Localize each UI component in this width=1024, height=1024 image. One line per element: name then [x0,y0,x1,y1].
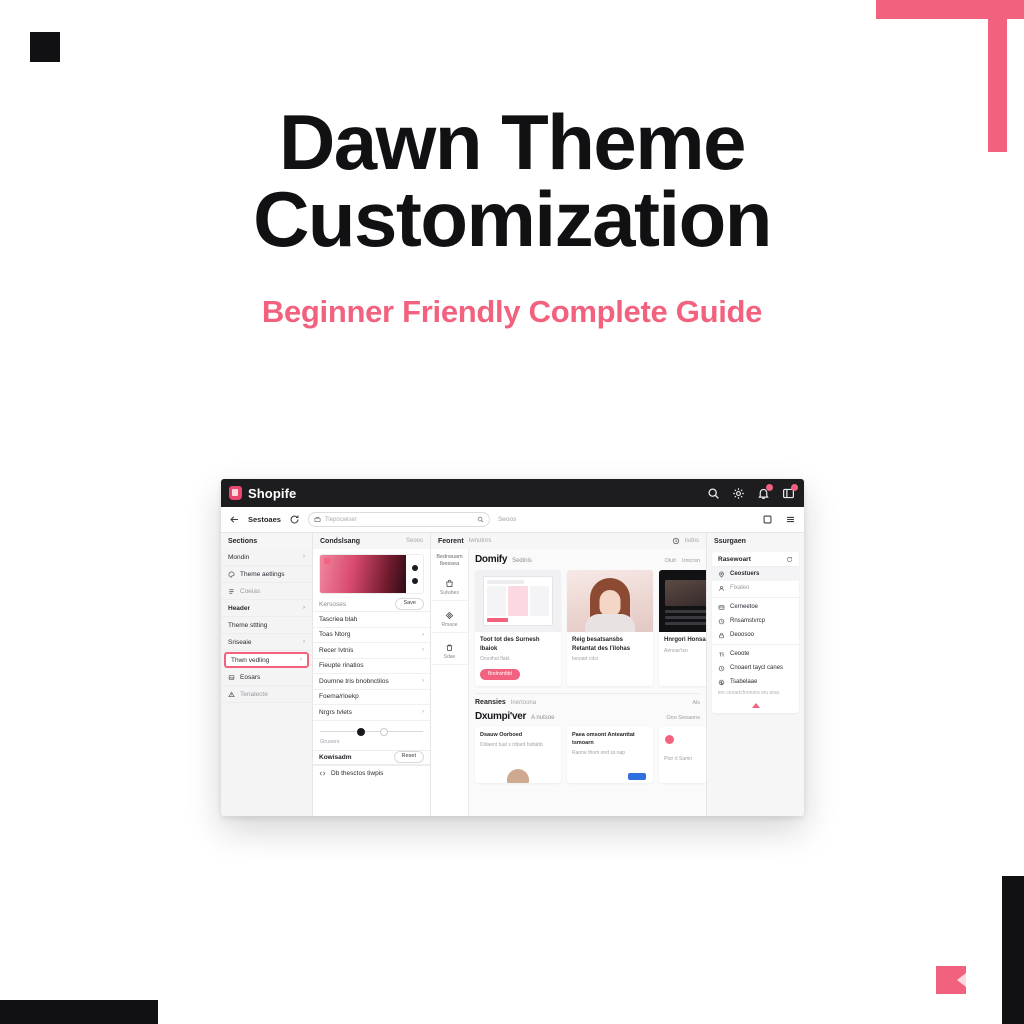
text-icon [718,651,725,658]
sections-panel-header: Sections [221,533,312,549]
inspector-footer [712,701,799,713]
storefront-logo: Domify [475,554,507,565]
inspector-item-label: Cnoaert taycl canes [730,665,783,671]
mini-card[interactable]: Dsauw Oorboed Didaent tuat s rdtard hslt… [475,727,561,783]
sidebar-item-label: Coeias [240,588,305,595]
mini-card-title: Paea omsont Anteanttat tsmoarn [572,732,648,747]
decor-bar-bottom-left [0,1000,158,1024]
product-card-body: Hnrgori Honsarpa Aenoar'tso [659,632,706,660]
sidebar-item-sriseaie[interactable]: Sriseaie › [221,634,312,651]
settings-panel-title: Condslsang [320,538,360,545]
section-strip-right[interactable]: Als [692,700,700,706]
swatch-stop-handles[interactable] [406,555,423,593]
clock-icon [718,618,725,625]
setting-row[interactable]: Foema/rloekp [313,690,430,706]
admin-toolbar: Sestoaes Tiepocwiser Seoos [221,507,804,533]
sidebar-item-label: Mondin [228,554,298,561]
sidebar-item-header[interactable]: Header › [221,600,312,617]
inspector-card-title: Rasewoart [718,556,751,563]
rail-item-sdae[interactable]: Sdae [431,639,468,665]
product-meta: Ienoart cdsi [572,656,648,662]
inspector-note: tno ceoartcfnonora sru anai. [712,689,799,701]
art-face [600,590,621,616]
palette-icon [228,571,235,578]
chevron-right-icon: › [300,657,302,663]
sidebar-item-label: Theme aetlings [240,571,305,578]
mini-card-button[interactable] [628,773,646,780]
setting-label: Doumne tris bnobnctilos [319,678,389,685]
inspector-title: Ssurgaen [714,538,746,545]
search-placeholder: Tiepocwiser [325,517,473,523]
art-image-block [665,580,706,606]
preview-rail: Bedrwuam Ibessea Sulwbes Rmaoe [431,549,469,816]
preview-subsection-header: Dxumpi'ver A nutsoe Ooo Seoaons [475,711,700,722]
storefront-preview: Domify Sedinis Olult Irnicrsn [469,549,706,816]
dashboard-artwork [483,576,553,626]
sections-panel-title: Sections [228,538,257,545]
refresh-icon[interactable] [289,514,300,525]
inspector-item-label: Fixaleo [730,585,749,591]
inspector-item-label: Cerneetoe [730,604,758,610]
rail-item-label: Sulwbes [440,590,459,596]
bag-icon [445,579,454,588]
inspector-item-fixaleo[interactable]: Fixaleo [712,581,799,595]
frame-icon[interactable] [762,514,773,525]
mini-card-row: Dsauw Oorboed Didaent tuat s rdtard hslt… [475,727,700,783]
sidebar-item-label: Thwn vedling [231,657,295,664]
sidebar-item-label: Eosars [240,674,305,681]
preview-header: Feorent Iwnutnrs Isdns [431,533,706,549]
swatch-stop-dot[interactable] [412,578,418,584]
setting-label: Foema/rloekp [319,693,359,700]
brand-name: Shopife [248,486,296,501]
panel-icon[interactable] [782,487,795,500]
gear-icon[interactable] [732,487,745,500]
setting-label: Tascriea blah [319,616,357,623]
shopify-bag-icon [229,486,242,500]
store-icon [314,516,321,523]
sections-panel: Sections Mondin › Theme aetlings [221,533,313,816]
preview-body: Bedrwuam Ibessea Sulwbes Rmaoe [431,549,706,816]
settings-footer-row: Kowisadm Reset [313,750,430,765]
decor-square-top-left [30,32,60,62]
admin-topbar: Shopife [221,479,804,507]
inspector-item-label: Deoosoo [730,632,754,638]
product-title: Hnrgori Honsarpa [664,636,706,645]
toolbar-right [762,514,796,525]
setting-row[interactable]: Recer Ivtnis › [313,643,430,659]
trash-icon [445,643,454,652]
search-icon[interactable] [707,487,720,500]
setting-label: Fieupte rinatios [319,662,363,669]
swatch-row: Kersoses Save [313,597,430,612]
sidebar-item-label: Sriseaie [228,639,298,646]
save-button[interactable]: Save [395,598,424,610]
inspector-card-header: Rasewoart [712,552,799,567]
product-thumbnail [659,570,706,632]
chevron-right-icon: › [422,632,424,638]
range-slider[interactable] [313,721,430,738]
sidebar-item-theme-settings[interactable]: Theme aetlings [221,566,312,583]
slider-line [320,731,423,733]
dollar-icon [718,679,725,686]
product-card-row: Toot tot des Surnesh Ibaiok Orsnihut fla… [475,570,700,686]
art-accent-bar [487,618,508,622]
section-strip-subtitle: Inertoona [511,700,536,706]
inspector-panel-header: Ssurgaen [707,533,804,549]
chevron-right-icon: › [303,554,305,560]
inspector-panel: Ssurgaen Rasewoart Ceostuers [706,533,804,816]
divider [712,597,799,598]
inspector-item-ceoote[interactable]: Ceoote [712,647,799,661]
mini-card-title: Dsauw Oorboed [480,732,556,740]
art-strip [665,610,706,613]
page-title-line1: Dawn Theme [279,98,745,186]
arrow-left-icon[interactable] [229,514,240,525]
art-cell [530,586,549,616]
preview-panel: Feorent Iwnutnrs Isdns Bedrwuam Ibessea [431,533,706,816]
chevron-right-icon: › [422,647,424,653]
art-torso [585,614,635,632]
product-title: Toot tot des Surnesh Ibaiok [480,636,556,653]
alert-icon [228,691,235,698]
sidebar-item-label: Tenalecte [240,691,305,698]
inspector-card: Rasewoart Ceostuers [712,552,799,713]
mini-card-subtitle: Didaent tuat s rdtard hsltabb [480,742,556,749]
refresh-icon[interactable] [786,556,793,563]
storefront-header-link[interactable]: Irnicrsn [682,558,700,564]
menu-icon[interactable] [785,514,796,525]
rail-item-label: Rmaoe [441,622,457,628]
product-card[interactable]: Hnrgori Honsarpa Aenoar'tso [659,570,706,686]
storefront-header: Domify Sedinis Olult Irnicrsn [475,554,700,565]
list-icon [228,588,235,595]
product-meta: Orsnihut flakt [480,656,556,662]
color-swatch-wrap [313,549,430,597]
art-strip [665,616,706,619]
inspector-item-label: Tsabelaae [730,679,757,685]
product-card[interactable]: Toot tot des Surnesh Ibaiok Orsnihut fla… [475,570,561,686]
rail-item-label: Sdae [444,654,456,660]
product-meta: Aenoar'tso [664,648,706,654]
product-card-body: Toot tot des Surnesh Ibaiok Orsnihut fla… [475,632,561,686]
preview-status-label: Isdns [685,538,699,544]
card-icon [718,604,725,611]
page-title: Dawn Theme Customization [0,104,1024,258]
preview-rail-title: Bedrwuam Ibessea [431,554,468,569]
preview-title: Feorent [438,538,464,545]
art-bar [487,580,524,584]
mini-card-subtitle: Raone thom ond ss.nap [572,750,648,757]
setting-label: Nrgrs tvlets [319,709,352,716]
rail-item-rmaoe[interactable]: Rmaoe [431,607,468,633]
code-icon [319,770,326,777]
rail-item-sulwbes[interactable]: Sulwbes [431,575,468,601]
avatar [507,769,529,783]
sidebar-item-eosars[interactable]: Eosars [221,669,312,686]
page-subtitle: Beginner Friendly Complete Guide [0,294,1024,330]
storefront-header-right: Olult Irnicrsn [665,558,700,564]
clock-icon [718,665,725,672]
pink-dot-icon [665,735,674,744]
divider [712,644,799,645]
inspector-item-tsabelaae[interactable]: Tsabelaae [712,675,799,689]
mini-card-subtitle: Ptor rt Samn [664,756,706,763]
tag-icon [445,611,454,620]
toolbar-label: Sestoaes [248,515,281,524]
chevron-right-icon: › [303,605,305,611]
sidebar-item-tenalecte[interactable]: Tenalecte [221,686,312,703]
topbar-icons [707,487,795,500]
sidebar-item-selected[interactable]: Thwn vedling › [224,652,309,668]
shopify-admin-screenshot: Shopife [221,479,804,816]
inspector-item-label: Ceostuers [730,571,759,577]
bell-icon[interactable] [757,487,770,500]
art-strip [665,622,706,625]
gradient-swatch[interactable] [319,554,424,594]
preview-header-right: Isdns [672,537,699,545]
sidebar-item-mondin[interactable]: Mondin › [221,549,312,566]
preview-section-strip: Reansies Inertoona Als [475,693,700,706]
setting-row[interactable]: Toas Ntorg › [313,628,430,644]
settings-footer-label: Kowisadm [319,754,352,761]
dark-artwork [659,570,706,632]
preview-subtitle: Iwnutnrs [469,538,492,544]
sidebar-item-label: Theme sttting [228,622,305,629]
setting-row[interactable]: Doumne tris bnobnctilos › [313,674,430,690]
inspector-item-deoosoo[interactable]: Deoosoo [712,628,799,642]
chevron-right-icon: › [303,639,305,645]
swatch-stop-dot[interactable] [412,565,418,571]
subsection-subtitle: A nutsoe [531,715,554,721]
storefront-nav[interactable]: Sedinis [512,558,532,564]
panel-badge [791,484,798,491]
settings-panel-subtitle: Seoos [406,538,423,544]
art-cell [487,586,506,616]
admin-body: Sections Mondin › Theme aetlings [221,533,804,816]
sidebar-item-theme-sttting[interactable]: Theme sttting [221,617,312,634]
decor-chip-bottom-right [936,966,966,994]
poster-canvas: Dawn Theme Customization Beginner Friend… [0,0,1024,1024]
section-strip-title: Reansies [475,699,506,706]
lock-icon [718,632,725,639]
settings-last-label: Db thesctos tiwpis [331,770,383,777]
slider-caption: Grusers [313,738,430,745]
inspector-item-label: Rnsamstvrcp [730,618,765,624]
setting-row[interactable]: Fieupte rinatios [313,659,430,675]
product-thumbnail [475,570,561,632]
brand[interactable]: Shopife [229,486,296,501]
person-icon [718,585,725,592]
product-thumbnail [567,570,653,632]
reset-button[interactable]: Reset [394,751,424,763]
inspector-item-cerneetoe[interactable]: Cerneetoe [712,600,799,614]
swatch-label: Kersoses [319,601,346,608]
inspector-item-label: Ceoote [730,651,749,657]
toolbar-secondary-label: Seoos [498,516,516,523]
gradient-preview [320,555,406,593]
setting-row[interactable]: Nrgrs tvlets › [313,705,430,721]
product-card-body: Reig besatsansbs Retantat des l'ilohas I… [567,632,653,668]
product-title: Reig besatsansbs Retantat des l'ilohas [572,636,648,653]
settings-panel-header: Condslsang Seoos [313,533,430,549]
inspector-item-ceostuers[interactable]: Ceostuers [712,567,799,581]
sidebar-item-label: Header [228,605,298,612]
subsection-right[interactable]: Ooo Seoaons [666,715,700,721]
mini-card[interactable]: Ptor rt Samn [659,727,706,783]
art-grid [487,586,549,616]
hero-block: Dawn Theme Customization Beginner Friend… [0,104,1024,330]
decor-bar-bottom-right [1002,876,1024,1024]
inspector-item-rnsamstvrcp[interactable]: Rnsamstvrcp [712,614,799,628]
search-submit-icon[interactable] [477,516,484,523]
setting-label: Recer Ivtnis [319,647,353,654]
settings-last-row[interactable]: Db thesctos tiwpis [313,765,430,781]
page-title-line2: Customization [0,181,1024,258]
slider-handle-min[interactable] [357,728,365,736]
chevron-right-icon: › [422,678,424,684]
inspector-item-cnoaert[interactable]: Cnoaert taycl canes [712,661,799,675]
art-cell [508,586,527,616]
portrait-artwork [567,570,653,632]
chevron-right-icon: › [422,709,424,715]
mini-card[interactable]: Paea omsont Anteanttat tsmoarn Raone tho… [567,727,653,783]
sidebar-item-coeias[interactable]: Coeias [221,583,312,600]
product-cta-button[interactable]: Bndrvinfdd [480,669,520,680]
setting-row[interactable]: Tascriea blah [313,612,430,628]
triangle-up-icon [752,703,760,708]
subsection-title: Dxumpi'ver [475,711,526,722]
clock-icon[interactable] [672,537,680,545]
bell-badge [766,484,773,491]
search-input[interactable]: Tiepocwiser [308,512,490,527]
image-icon [228,674,235,681]
storefront-header-link[interactable]: Olult [665,558,676,564]
slider-handle-max[interactable] [380,728,388,736]
settings-panel: Condslsang Seoos Kersoses Save [313,533,431,816]
setting-label: Toas Ntorg [319,631,350,638]
product-card[interactable]: Reig besatsansbs Retantat des l'ilohas I… [567,570,653,686]
slider-track[interactable] [320,728,423,736]
pin-icon [718,571,725,578]
